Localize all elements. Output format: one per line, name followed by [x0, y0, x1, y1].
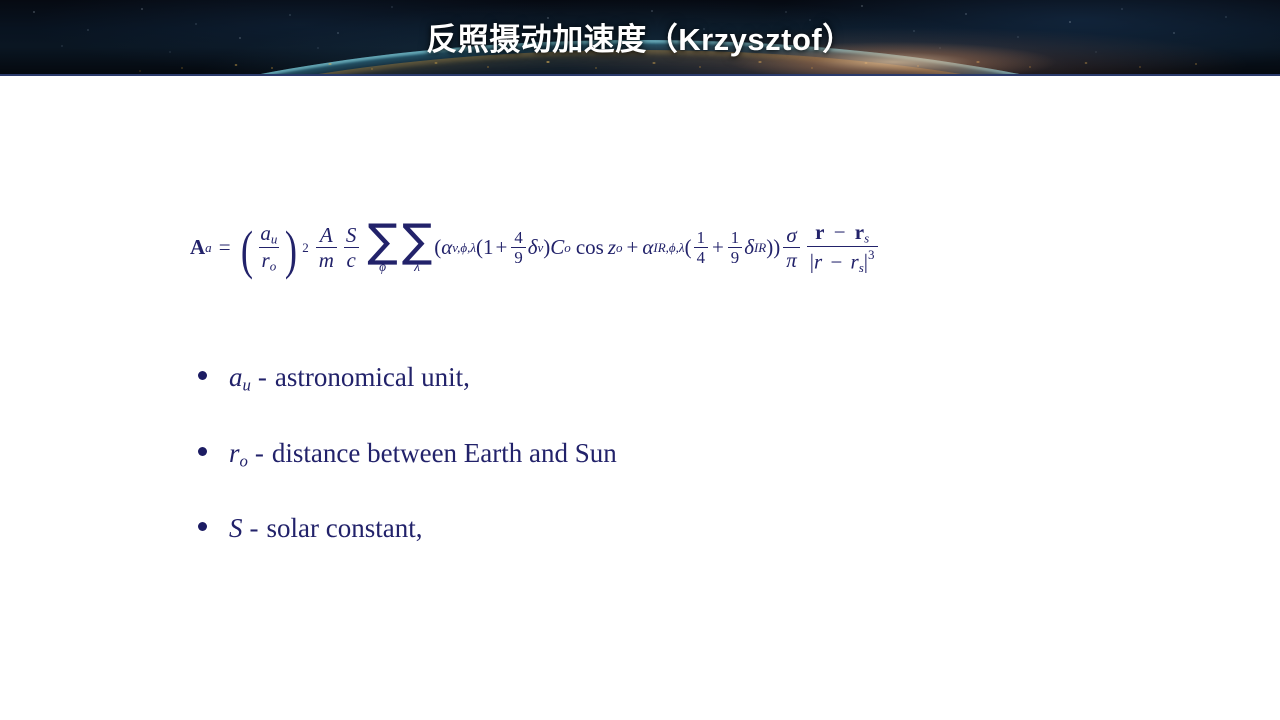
eq-alpha-v: α	[441, 235, 452, 260]
eq-group-close: )	[773, 235, 780, 260]
eq-group-open: (	[434, 235, 441, 260]
bullet-symbol-base: S	[229, 513, 243, 543]
eq-z-symbol: z	[608, 235, 616, 260]
eq-vec-rs-sub: s	[864, 231, 869, 246]
eq-lhs-subscript: a	[205, 240, 212, 256]
slide: 反照摄动加速度（Krzysztof） Aa = ( au ro )2 A m S…	[0, 0, 1280, 720]
bullet-symbol: au	[229, 362, 251, 396]
eq-1-num-b: 1	[728, 229, 742, 248]
eq-A-over-m: A m	[316, 224, 337, 271]
eq-four-ninths: 4 9	[511, 229, 525, 267]
eq-lhs-symbol: A	[190, 235, 205, 260]
eq-A-num: A	[317, 224, 336, 247]
eq-minus-den: −	[830, 250, 842, 274]
eq-9-den-b: 9	[728, 247, 742, 267]
eq-minus-num: −	[834, 220, 846, 244]
eq-C-symbol: C	[550, 235, 564, 260]
eq-4-num: 4	[511, 229, 525, 248]
bullet-symbol-base: a	[229, 362, 243, 392]
eq-inner-open: (	[476, 235, 483, 260]
eq-plus-3: +	[712, 235, 724, 260]
eq-z-sub: o	[616, 240, 623, 256]
bullet-symbol: S	[229, 513, 243, 547]
eq-vec-r: r	[815, 220, 824, 244]
eq-S-num: S	[343, 224, 360, 247]
eq-plus-2: +	[627, 235, 639, 260]
sigma-summation-icon: ∑	[367, 222, 397, 259]
albedo-perturbation-equation: Aa = ( au ro )2 A m S c ∑ ϕ ∑ λ	[190, 221, 880, 275]
eq-den-r: r	[814, 250, 822, 274]
eq-vector-fraction: r − rs |r − rs|3	[807, 221, 878, 275]
bullet-text: astronomical unit,	[275, 362, 470, 393]
bullet-symbol-subscript: o	[240, 451, 248, 470]
bullet-text: solar constant,	[267, 513, 423, 544]
eq-inner2-open: (	[685, 235, 692, 260]
eq-den-power: 3	[868, 247, 875, 262]
eq-C-sub: o	[564, 240, 571, 256]
eq-pi: π	[783, 247, 800, 271]
eq-au-ro-fraction: au ro	[257, 222, 280, 274]
bullet-dash: -	[255, 438, 264, 469]
eq-9-den: 9	[511, 247, 525, 267]
bullet-symbol: ro	[229, 438, 248, 472]
eq-one-quarter: 1 4	[694, 229, 708, 267]
eq-one-ninth: 1 9	[728, 229, 742, 267]
bullet-symbol-subscript: u	[243, 376, 251, 395]
eq-den-rs: r	[851, 250, 859, 274]
slide-header-banner: 反照摄动加速度（Krzysztof）	[0, 0, 1280, 76]
list-item: S - solar constant,	[198, 513, 1098, 547]
eq-alpha-IR: α	[642, 235, 653, 260]
eq-sum-phi: ∑ ϕ	[367, 222, 397, 273]
eq-S-over-c: S c	[343, 224, 360, 271]
list-item: au - astronomical unit,	[198, 362, 1098, 396]
eq-power: 2	[302, 240, 309, 256]
eq-1-num-a: 1	[694, 229, 708, 248]
eq-ratio-num: a	[260, 221, 271, 245]
eq-ratio-num-sub: u	[271, 232, 278, 247]
eq-vec-rs: r	[855, 220, 864, 244]
slide-body: Aa = ( au ro )2 A m S c ∑ ϕ ∑ λ	[0, 76, 1280, 720]
eq-inner2-close: )	[766, 235, 773, 260]
eq-plus-1: +	[496, 235, 508, 260]
eq-cos-operator: cos	[576, 235, 604, 260]
eq-ratio-den: r	[262, 248, 270, 272]
slide-title: 反照摄动加速度（Krzysztof）	[0, 0, 1280, 76]
bullet-dot-icon	[198, 447, 207, 456]
eq-sum-index-lambda: λ	[414, 260, 420, 273]
eq-alpha-IR-sub: IR,ϕ,λ	[653, 240, 684, 256]
eq-one: 1	[483, 235, 494, 260]
bullet-symbol-base: r	[229, 438, 240, 468]
bullet-text: distance between Earth and Sun	[272, 438, 617, 469]
sigma-summation-icon-2: ∑	[402, 222, 432, 259]
eq-sigma: σ	[783, 224, 799, 247]
bullet-dash: -	[258, 362, 267, 393]
eq-m-den: m	[316, 247, 337, 271]
eq-4-den: 4	[694, 247, 708, 267]
eq-delta-IR: δ	[744, 235, 754, 260]
eq-alpha-v-sub: v,ϕ,λ	[452, 240, 476, 256]
eq-sum-lambda: ∑ λ	[402, 222, 432, 273]
bullet-dot-icon	[198, 371, 207, 380]
eq-sigma-over-pi: σ π	[783, 224, 800, 271]
definition-list: au - astronomical unit, ro - distance be…	[198, 362, 1098, 589]
bullet-dot-icon	[198, 522, 207, 531]
eq-inner-close: )	[543, 235, 550, 260]
eq-sum-index-phi: ϕ	[379, 260, 386, 273]
bullet-dash: -	[250, 513, 259, 544]
list-item: ro - distance between Earth and Sun	[198, 438, 1098, 472]
eq-c-den: c	[344, 247, 359, 271]
eq-delta-v: δ	[528, 235, 538, 260]
eq-delta-IR-sub: IR	[754, 240, 766, 256]
eq-equals: =	[219, 235, 231, 260]
eq-ratio-den-sub: o	[270, 259, 277, 274]
